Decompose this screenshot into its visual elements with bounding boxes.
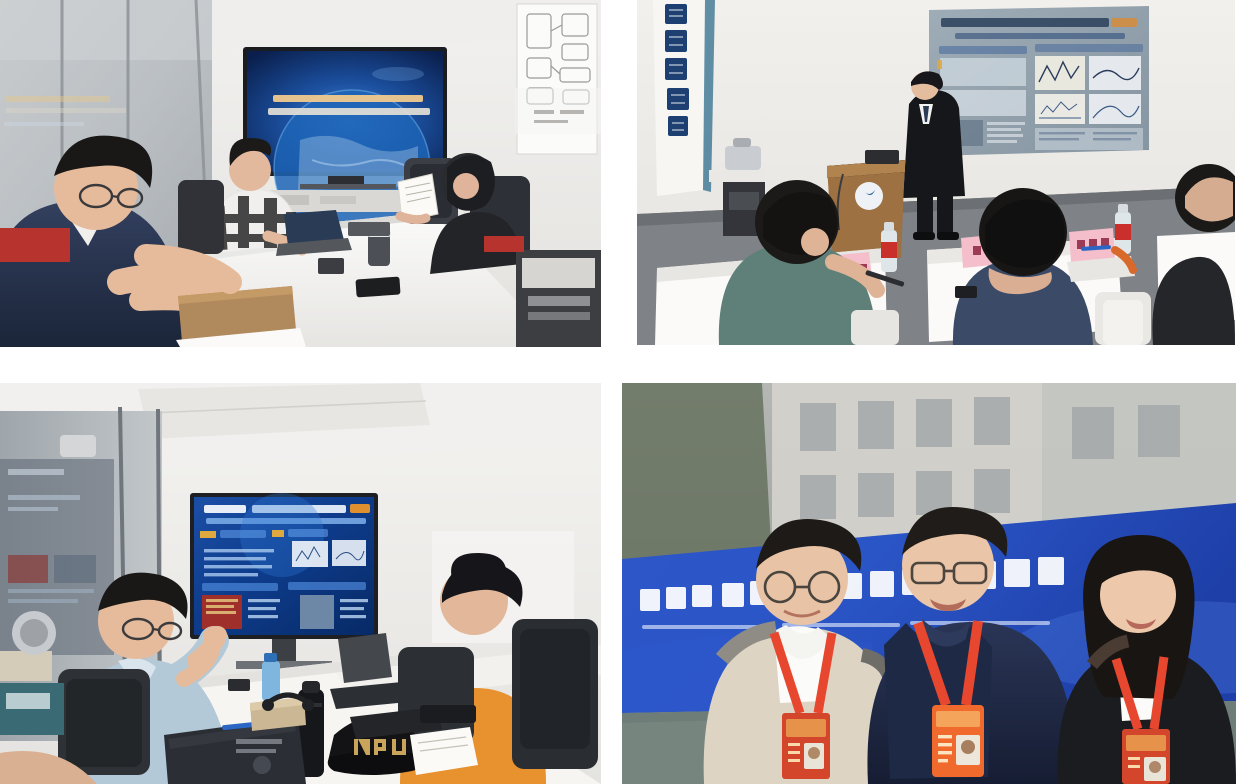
tablet <box>420 705 476 723</box>
name-card-3 <box>1069 228 1115 262</box>
photo-meeting-room-screen <box>0 0 601 347</box>
monitor-back <box>338 633 392 683</box>
photo-grid: Three people seated around a long white … <box>0 0 1236 784</box>
photo-competition-defense <box>637 0 1235 345</box>
small-device <box>318 258 344 274</box>
smartphone-on-table <box>955 286 977 298</box>
photo-team-group-banner <box>622 383 1236 784</box>
smartphone <box>355 276 400 297</box>
wall-diagram-sheets <box>515 4 601 154</box>
photo-lab-discussion <box>0 383 601 784</box>
lab-discussion-illustration <box>0 383 601 784</box>
defense-room-illustration <box>637 0 1235 345</box>
meeting-room-illustration <box>0 0 601 347</box>
small-device <box>228 679 250 691</box>
office-chair-left <box>58 669 150 775</box>
cardboard-box <box>250 697 306 731</box>
projection-screen <box>929 6 1149 156</box>
team-group-illustration <box>622 383 1236 784</box>
wall-vertical-banner <box>653 0 715 196</box>
